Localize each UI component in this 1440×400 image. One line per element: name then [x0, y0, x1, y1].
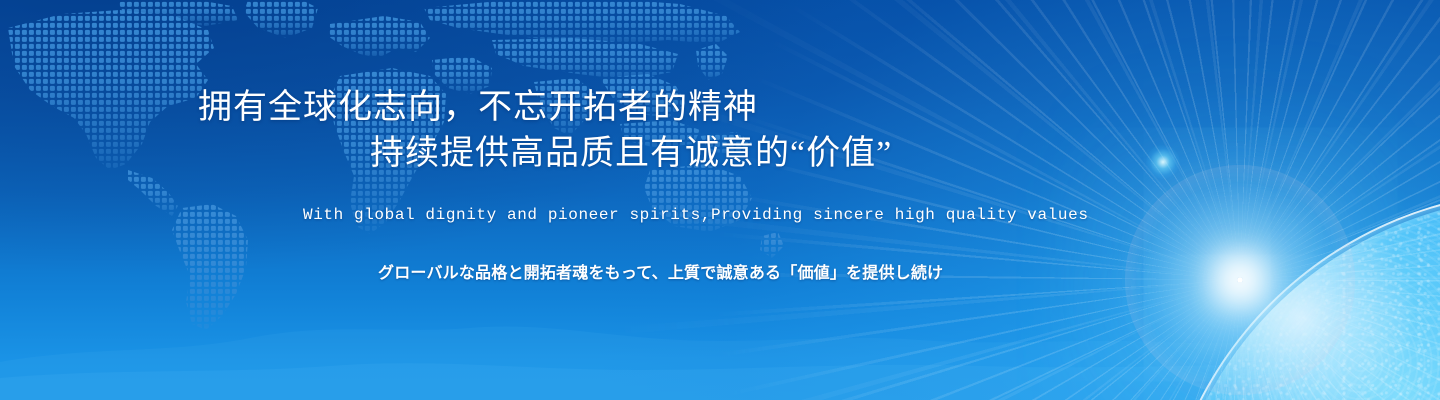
hero-banner: 拥有全球化志向，不忘开拓者的精神 持续提供高品质且有诚意的“价值” With g… — [0, 0, 1440, 400]
horizon-hills-icon — [0, 290, 1440, 400]
world-map-icon — [0, 0, 790, 334]
